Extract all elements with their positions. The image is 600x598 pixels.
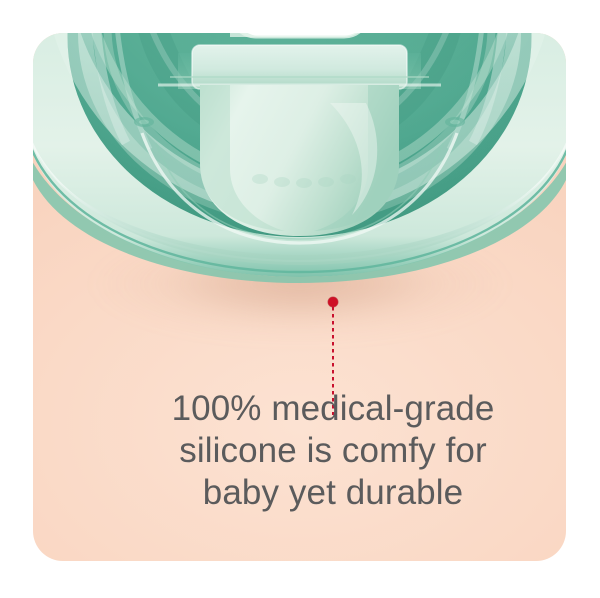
callout-dot	[328, 297, 338, 307]
pacifier-teat	[200, 85, 399, 236]
pacifier-handle-cutout	[230, 33, 370, 37]
caption-line-1: 100% medical-grade	[33, 388, 566, 430]
feature-caption: 100% medical-grade silicone is comfy for…	[33, 388, 566, 514]
pacifier-svg	[33, 33, 566, 293]
caption-line-3: baby yet durable	[33, 472, 566, 514]
screenshot-root: 100% medical-grade silicone is comfy for…	[0, 0, 600, 598]
product-feature-card: 100% medical-grade silicone is comfy for…	[33, 33, 566, 561]
pacifier-collar	[158, 45, 441, 89]
caption-line-2: silicone is comfy for	[33, 430, 566, 472]
